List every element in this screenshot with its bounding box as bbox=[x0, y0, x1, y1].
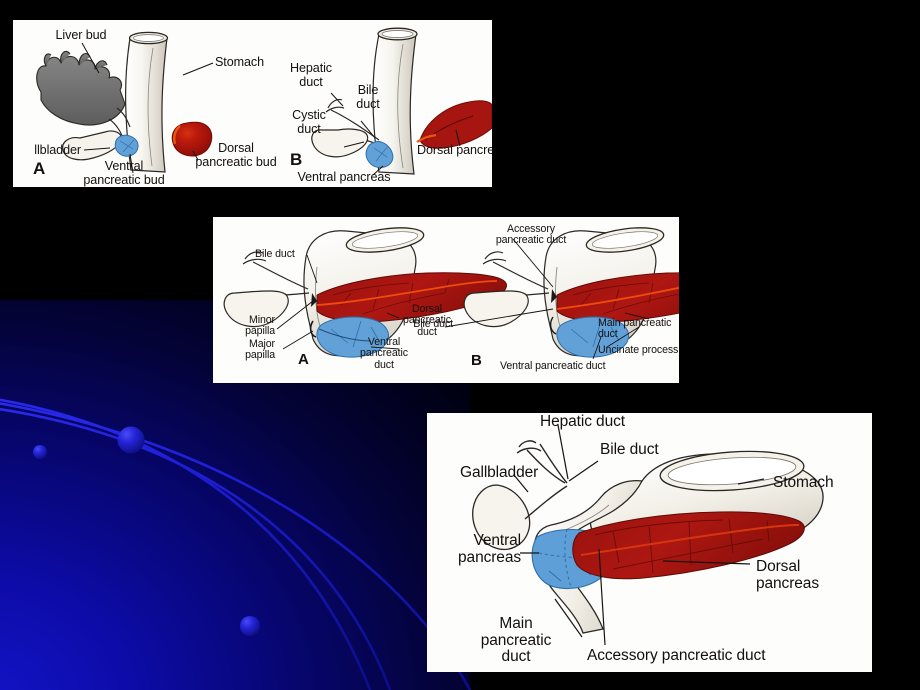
label-ventral-pancreas: Ventral pancreas bbox=[445, 533, 521, 566]
orbit-dot-small bbox=[33, 445, 47, 459]
duct-fusion-panel[interactable]: Bile duct Minor papilla Major papilla Do… bbox=[213, 217, 679, 383]
label-main-pancreatic-duct: Main pancreatic duct bbox=[598, 318, 679, 341]
label-liver-bud: Liver bud bbox=[41, 29, 121, 43]
label-main-pancreatic-duct: Main pancreatic duct bbox=[475, 616, 557, 666]
label-subfigure-b: B bbox=[290, 151, 302, 169]
embryonic-buds-panel[interactable]: Liver bud Stomach llbladder Ventral panc… bbox=[13, 20, 492, 187]
label-cystic-duct: Cystic duct bbox=[279, 109, 339, 136]
label-subfigure-a: A bbox=[33, 160, 45, 178]
label-accessory-pancreatic-duct: Accessory pancreatic duct bbox=[478, 224, 584, 247]
label-bile-duct: Bile duct bbox=[346, 84, 390, 111]
orbit-dot-medium bbox=[240, 616, 260, 636]
label-stomach: Stomach bbox=[773, 475, 833, 492]
label-dorsal-pancreas: Dorsal pancre bbox=[417, 144, 492, 158]
label-duct-subfigure-b: B bbox=[471, 353, 482, 369]
label-bile-duct: Bile duct bbox=[600, 442, 659, 459]
label-hepatic-duct: Hepatic duct bbox=[281, 62, 341, 89]
label-bile-duct-a: Bile duct bbox=[255, 249, 295, 260]
duct-fusion-illustration bbox=[213, 217, 679, 383]
label-ventral-pancreatic-bud: Ventral pancreatic bud bbox=[60, 160, 188, 187]
adult-pancreas-panel[interactable]: Hepatic duct Bile duct Gallbladder Stoma… bbox=[427, 413, 872, 672]
label-ventral-pancreatic-duct-a: Ventral pancreatic duct bbox=[347, 337, 421, 371]
label-ventral-pancreas: Ventral pancreas bbox=[285, 171, 403, 185]
label-stomach: Stomach bbox=[215, 56, 264, 70]
label-dorsal-pancreatic-bud: Dorsal pancreatic bud bbox=[173, 142, 299, 169]
label-hepatic-duct: Hepatic duct bbox=[540, 414, 625, 431]
orbit-dot-large bbox=[118, 427, 145, 454]
label-dorsal-pancreas: Dorsal pancreas bbox=[756, 559, 819, 592]
label-minor-papilla: Minor papilla bbox=[213, 315, 275, 338]
label-major-papilla: Major papilla bbox=[213, 339, 275, 362]
label-gallbladder: Gallbladder bbox=[460, 465, 538, 482]
label-accessory-pancreatic-duct: Accessory pancreatic duct bbox=[587, 648, 765, 665]
label-gallbladder: llbladder bbox=[13, 144, 81, 158]
label-duct-subfigure-a: A bbox=[298, 352, 309, 368]
label-bile-duct-b: Bile duct bbox=[391, 319, 453, 330]
slide-canvas: Liver bud Stomach llbladder Ventral panc… bbox=[0, 0, 920, 690]
label-uncinate-process: Uncinate process bbox=[598, 345, 678, 356]
label-ventral-pancreatic-duct-b: Ventral pancreatic duct bbox=[500, 361, 605, 372]
